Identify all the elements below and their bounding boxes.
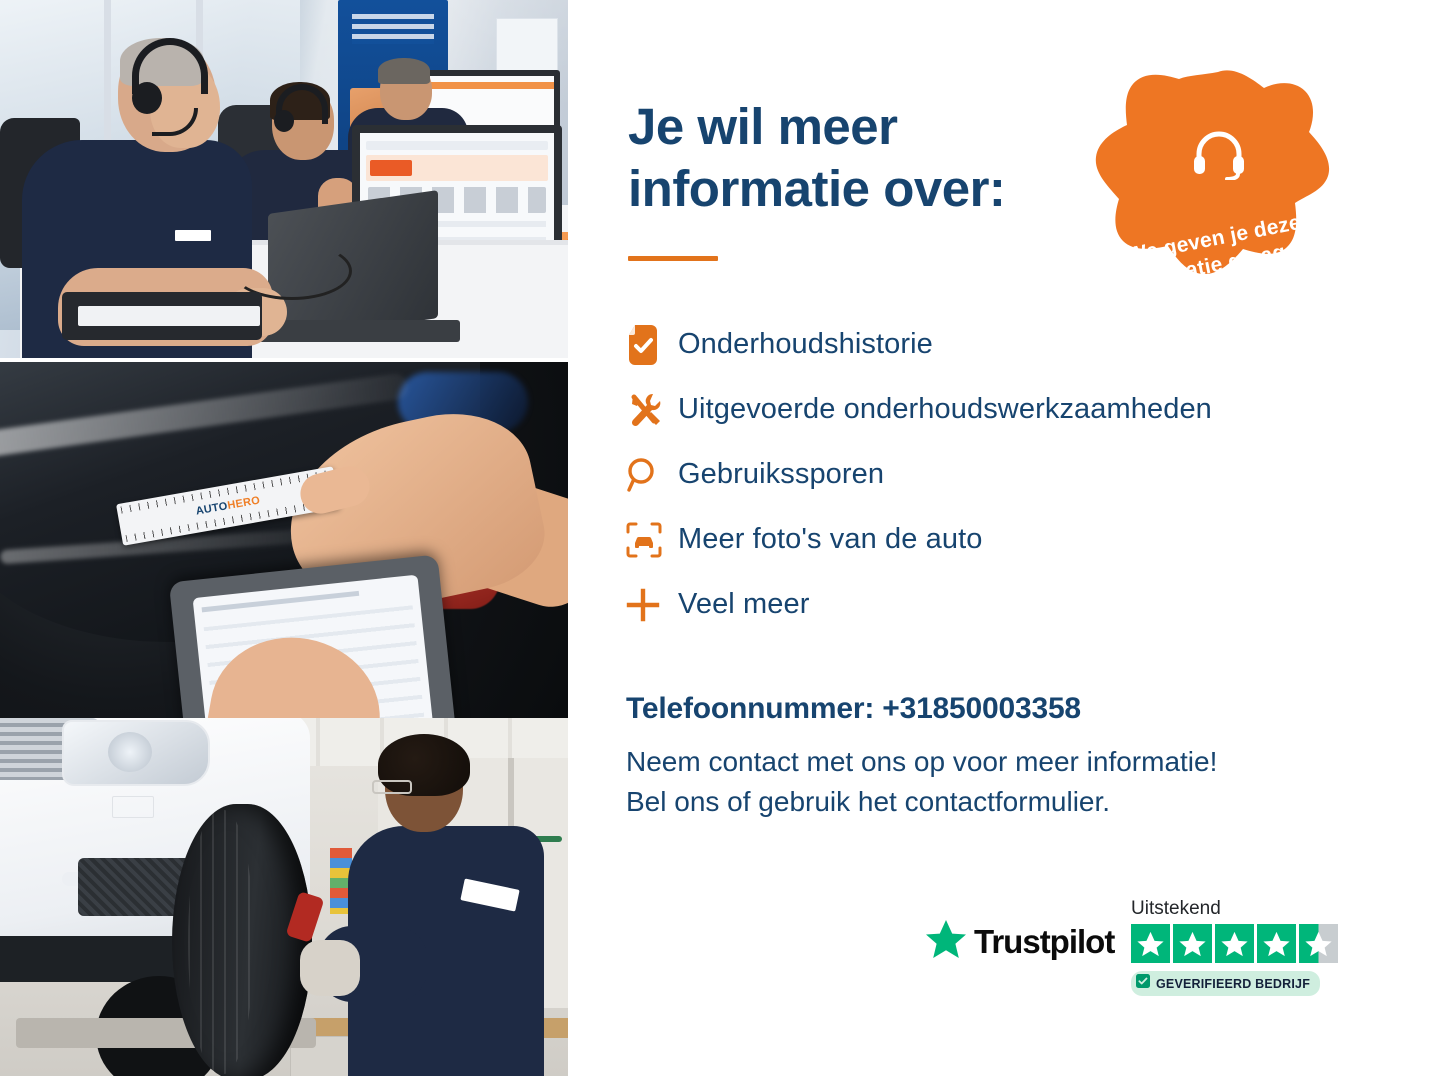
list-item: Onderhoudshistorie: [626, 312, 1386, 377]
star-rating: [1131, 924, 1346, 963]
list-item: Veel meer: [626, 572, 1386, 637]
contact-text-line-1: Neem contact met ons op voor meer inform…: [626, 746, 1217, 777]
headline-line-1: Je wil meer: [628, 98, 898, 155]
content-panel: Je wil meer informatie over: We geven je…: [568, 0, 1440, 1080]
feature-list: Onderhoudshistorie Uitgevoerde onderhoud…: [626, 312, 1386, 637]
trustpilot-star-icon: [926, 920, 966, 963]
star-icon-half: [1299, 924, 1338, 963]
tools-wrench-screwdriver-icon: [626, 391, 678, 429]
list-item: Gebruikssporen: [626, 442, 1386, 507]
list-item-label: Uitgevoerde onderhoudswerkzaamheden: [678, 393, 1212, 426]
verified-check-icon: [1136, 974, 1150, 993]
trustpilot-rating: Uitstekend: [1131, 898, 1346, 996]
document-check-icon: [626, 325, 678, 365]
phone-number[interactable]: +31850003358: [882, 692, 1081, 725]
list-item-label: Onderhoudshistorie: [678, 328, 933, 361]
title-divider: [628, 256, 718, 261]
call-center-agents-photo: [0, 0, 568, 358]
plus-icon: [626, 588, 678, 622]
trustpilot-widget[interactable]: Trustpilot Uitstekend: [926, 898, 1346, 1008]
promo-page: AUTOHERO: [0, 0, 1440, 1080]
ruler-logo-hero: HERO: [227, 494, 262, 512]
trustpilot-wordmark: Trustpilot: [974, 923, 1114, 961]
ruler-logo-auto: AUTO: [195, 500, 229, 517]
star-icon: [1257, 924, 1296, 963]
technician-tyre-check-photo: [0, 718, 568, 1076]
list-item-label: Meer foto's van de auto: [678, 523, 982, 556]
list-item: Meer foto's van de auto: [626, 507, 1386, 572]
phone-label: Telefoonnummer:: [626, 692, 874, 725]
list-item-label: Gebruikssporen: [678, 458, 884, 491]
rating-label: Uitstekend: [1131, 898, 1346, 920]
photo-column: AUTOHERO: [0, 0, 568, 1080]
star-icon: [1173, 924, 1212, 963]
headline-line-2: informatie over:: [628, 160, 1005, 217]
verified-label: GEVERIFIEERD BEDRIJF: [1156, 977, 1310, 991]
phone-line: Telefoonnummer: +31850003358: [626, 692, 1366, 726]
star-icon: [1215, 924, 1254, 963]
star-icon: [1131, 924, 1170, 963]
contact-text: Neem contact met ons op voor meer inform…: [626, 742, 1366, 822]
magnifier-icon: [626, 457, 678, 493]
contact-block: Telefoonnummer: +31850003358 Neem contac…: [626, 692, 1366, 822]
contact-text-line-2: Bel ons of gebruik het contactformulier.: [626, 786, 1110, 817]
car-inspection-ruler-photo: AUTOHERO: [0, 362, 568, 718]
list-item-label: Veel meer: [678, 588, 809, 621]
status-badge: GEVERIFIEERD BEDRIJF: [1131, 971, 1320, 996]
car-scan-frame-icon: [626, 522, 678, 558]
headset-icon: [1191, 130, 1247, 185]
trustpilot-logo: Trustpilot: [926, 920, 1114, 963]
info-on-request-badge: We geven je deze informatie graag op ver…: [1076, 68, 1361, 348]
list-item: Uitgevoerde onderhoudswerkzaamheden: [626, 377, 1386, 442]
